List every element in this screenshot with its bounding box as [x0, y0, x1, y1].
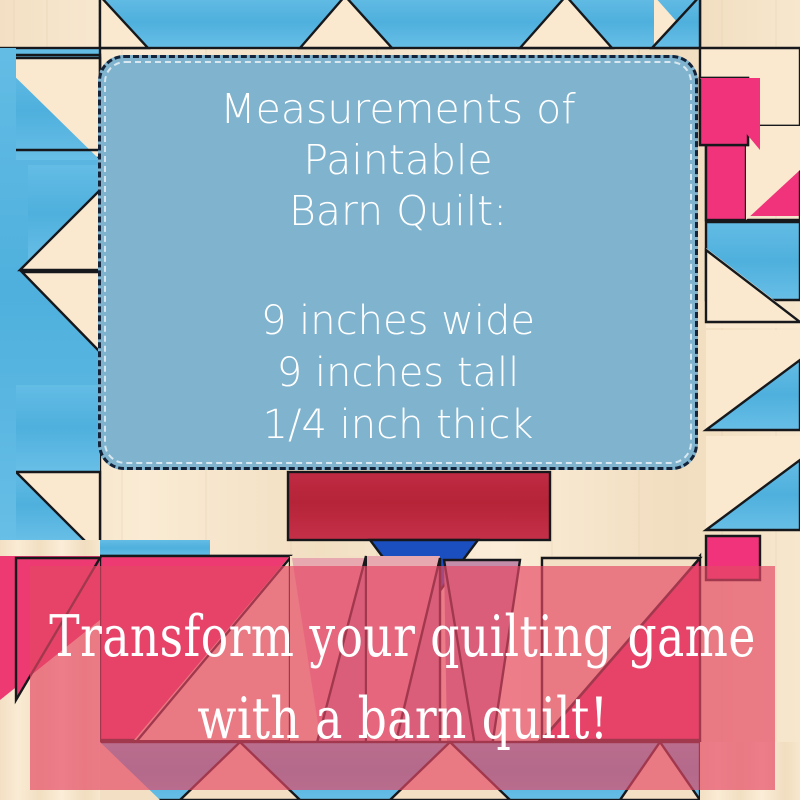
card-title-line-2: Barn Quilt: [126, 186, 671, 237]
measurement-width: 9 inches wide [261, 295, 535, 347]
measurements-list: 9 inches wide 9 inches tall 1/4 inch thi… [261, 295, 535, 451]
card-title: Measurements of Paintable Barn Quilt: [126, 84, 671, 237]
promo-line-1: Transform your quilting game [49, 596, 755, 678]
measurements-card: Measurements of Paintable Barn Quilt: 9 … [98, 55, 698, 470]
measurement-thickness: 1/4 inch thick [261, 399, 535, 451]
card-title-line-1: Measurements of Paintable [126, 84, 671, 186]
promo-banner: Transform your quilting game with a barn… [30, 566, 775, 790]
promotional-graphic: Measurements of Paintable Barn Quilt: 9 … [0, 0, 800, 800]
measurement-height: 9 inches tall [261, 347, 535, 399]
promo-line-2: with a barn quilt! [197, 678, 608, 760]
